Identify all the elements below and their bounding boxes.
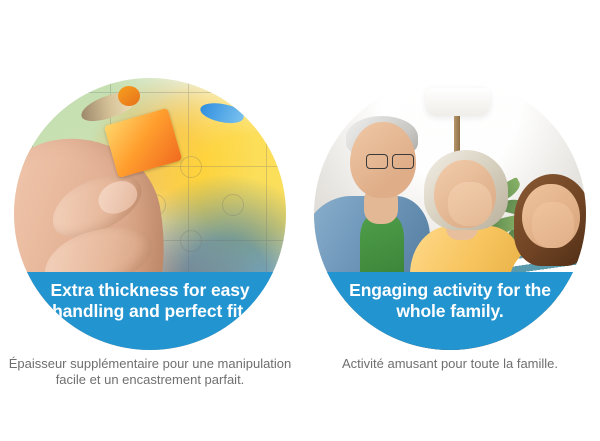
french-caption-extra-thickness: Épaisseur supplémentaire pour une manipu…: [8, 356, 292, 388]
puzzle-knob-icon: [222, 194, 244, 216]
circular-image-extra-thickness: Extra thickness for easy handling and pe…: [14, 78, 286, 350]
caption-band-engaging-activity: Engaging activity for the whole family.: [314, 272, 586, 350]
feature-panel-engaging-activity: Engaging activity for the whole family. …: [300, 0, 600, 441]
eyeglasses-icon: [366, 154, 418, 168]
feature-panel-extra-thickness: Extra thickness for easy handling and pe…: [0, 0, 300, 441]
circular-image-engaging-activity: Engaging activity for the whole family.: [314, 78, 586, 350]
floor-lamp-icon: [426, 88, 490, 116]
puzzle-knob-icon: [180, 156, 202, 178]
banner-headline-extra-thickness: Extra thickness for easy handling and pe…: [34, 272, 266, 322]
puzzle-knob-icon: [180, 230, 202, 252]
caption-band-extra-thickness: Extra thickness for easy handling and pe…: [14, 272, 286, 350]
feature-panels-stage: Extra thickness for easy handling and pe…: [0, 0, 600, 441]
banner-headline-engaging-activity: Engaging activity for the whole family.: [334, 272, 566, 322]
french-caption-engaging-activity: Activité amusant pour toute la famille.: [308, 356, 592, 372]
